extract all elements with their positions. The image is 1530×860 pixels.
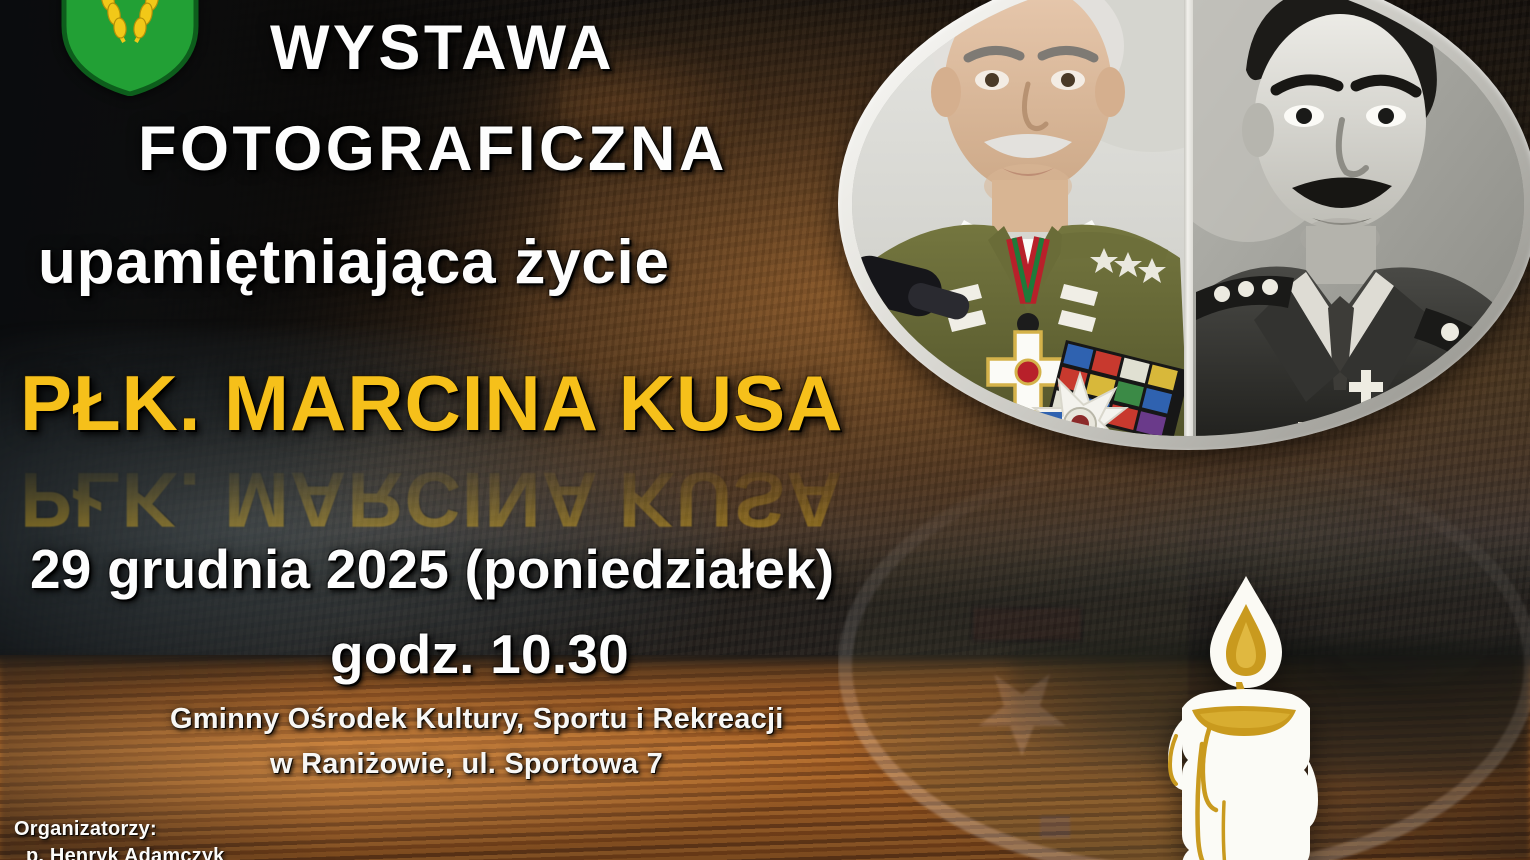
venue-line-1: Gminny Ośrodek Kultury, Sportu i Rekreac… <box>170 703 784 736</box>
headline-line-2: FOTOGRAFICZNA <box>138 113 728 185</box>
honoree-name-reflection: PŁK. MARCINA KUSA <box>20 454 843 545</box>
headline-line-3: upamiętniająca życie <box>38 227 670 298</box>
portrait-divider <box>1184 0 1193 436</box>
oval-photo-area <box>852 0 1524 436</box>
organizers-label: Organizatorzy: <box>14 818 157 841</box>
colonel-young-portrait-image <box>1188 0 1524 436</box>
coat-of-arms-icon <box>60 0 200 96</box>
memorial-candle-icon <box>1148 570 1344 860</box>
portrait-right <box>1188 0 1524 436</box>
poster-canvas: WYSTAWA FOTOGRAFICZNA upamiętniająca życ… <box>0 0 1530 860</box>
headline-line-1: WYSTAWA <box>270 12 615 84</box>
organizer-name-1: p. Henryk Adamczyk <box>26 845 225 860</box>
honoree-block: PŁK. MARCINA KUSA PŁK. MARCINA KUSA <box>20 358 950 528</box>
event-date: 29 grudnia 2025 (poniedziałek) <box>30 537 834 601</box>
honoree-name: PŁK. MARCINA KUSA <box>20 358 843 449</box>
event-time: godz. 10.30 <box>330 622 629 686</box>
venue-line-2: w Raniżowie, ul. Sportowa 7 <box>270 748 663 781</box>
